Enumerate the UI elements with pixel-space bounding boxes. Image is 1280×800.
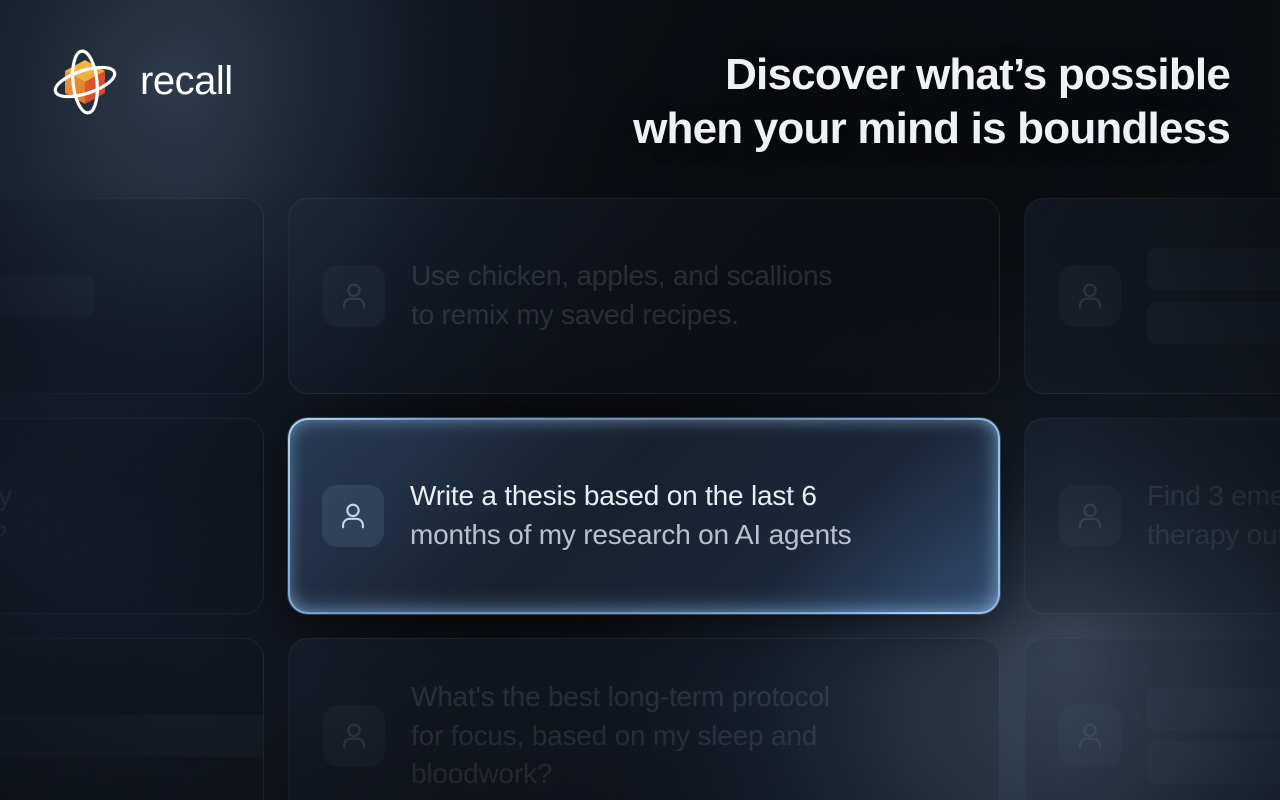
prompt-line: to remix my saved recipes. (411, 296, 832, 335)
card-focus-protocol[interactable]: What's the best long-term protocolfor fo… (288, 638, 1000, 800)
card-right-top[interactable] (1024, 198, 1280, 394)
brand-wordmark: recall (140, 61, 233, 101)
user-avatar-icon (1059, 265, 1121, 327)
prompt-text: What's the best long-term protocolfor fo… (411, 678, 830, 794)
card-right-middle[interactable]: Find 3 emerging papers ontherapy outcome… (1024, 418, 1280, 614)
skeleton-placeholder (0, 275, 95, 317)
prompt-line: Find 3 emerging papers on (1147, 477, 1280, 516)
skeleton-bar (0, 275, 95, 317)
prompt-line: Write a thesis based on the last 6 (410, 477, 851, 516)
prompt-text: Find 3 emerging papers ontherapy outcome… (1147, 477, 1280, 554)
prompt-text: Write a thesis based on the last 6months… (410, 477, 851, 554)
user-avatar-icon (322, 485, 384, 547)
brand-logo[interactable]: recall (48, 44, 233, 118)
prompt-line: What's the best long-term protocol (411, 678, 830, 717)
prompt-line: for focus, based on my sleep and (411, 717, 830, 756)
prompt-text: Use chicken, apples, and scallionsto rem… (411, 257, 832, 334)
skeleton-bar (0, 715, 264, 757)
card-left-top[interactable] (0, 198, 264, 394)
skeleton-bar (1147, 688, 1280, 730)
prompt-line: Use chicken, apples, and scallions (411, 257, 832, 296)
skeleton-bar (1147, 248, 1280, 290)
recall-orbit-cube-logo-icon (48, 44, 122, 118)
skeleton-bar (1147, 302, 1280, 344)
prompt-line: therapy outcomes for my review (1147, 516, 1280, 555)
prompt-text: Draft a plan for us using mynotes from T… (0, 477, 12, 554)
skeleton-placeholder (1147, 688, 1280, 784)
prompt-card-grid: Use chicken, apples, and scallionsto rem… (0, 198, 1280, 800)
user-avatar-icon (323, 265, 385, 327)
prompt-line: bloodwork? (411, 755, 830, 794)
user-avatar-icon (323, 705, 385, 767)
card-right-bottom[interactable] (1024, 638, 1280, 800)
skeleton-bar (1147, 742, 1280, 784)
card-left-bottom[interactable] (0, 638, 264, 800)
promo-screen: Use chicken, apples, and scallionsto rem… (0, 0, 1280, 800)
prompt-line: notes from Tokyo trip data? (0, 516, 12, 555)
user-avatar-icon (1059, 705, 1121, 767)
prompt-line: months of my research on AI agents (410, 516, 851, 555)
card-left-middle[interactable]: Draft a plan for us using mynotes from T… (0, 418, 264, 614)
skeleton-placeholder (1147, 248, 1280, 344)
skeleton-placeholder (0, 715, 264, 757)
user-avatar-icon (1059, 485, 1121, 547)
card-thesis[interactable]: Write a thesis based on the last 6months… (288, 418, 1000, 614)
prompt-line: Draft a plan for us using my (0, 477, 12, 516)
card-recipes[interactable]: Use chicken, apples, and scallionsto rem… (288, 198, 1000, 394)
